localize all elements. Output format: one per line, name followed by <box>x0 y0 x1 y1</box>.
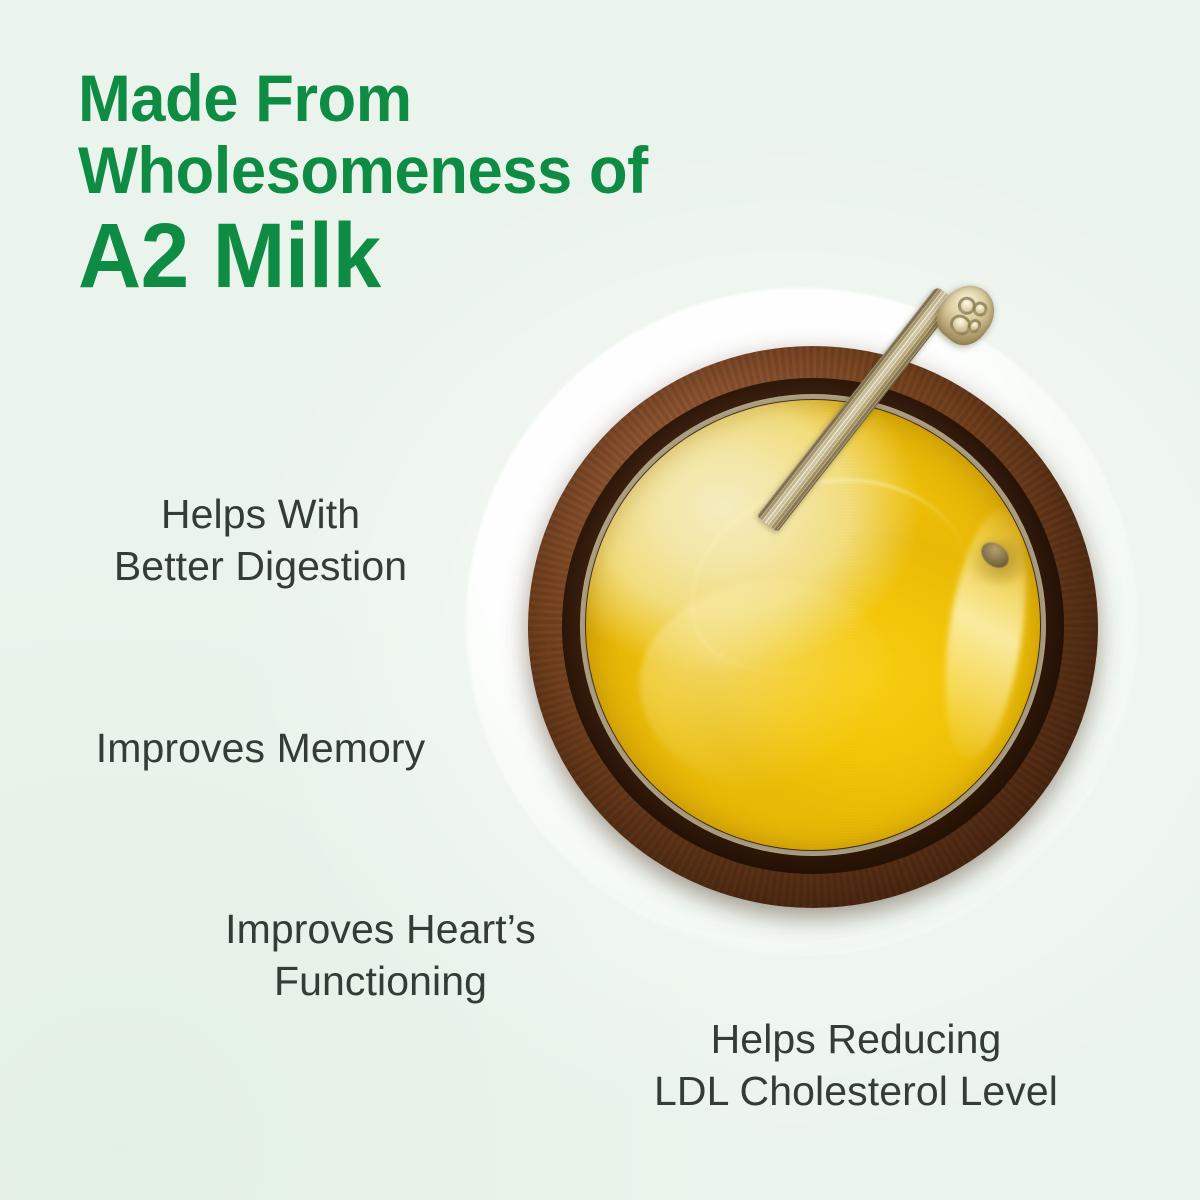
ornament-scroll-2 <box>970 299 991 320</box>
benefit-helps-with-better-digestion: Helps With Better Digestion <box>38 488 483 592</box>
headline: Made From Wholesomeness of A2 Milk <box>78 62 838 304</box>
benefit-improves-memory: Improves Memory <box>28 722 493 774</box>
product-infographic: Made From Wholesomeness of A2 Milk Helps… <box>0 0 1200 1200</box>
headline-line-3: A2 Milk <box>78 208 800 304</box>
melted-ghee-surface <box>586 400 1040 850</box>
headline-line-2: Wholesomeness of <box>78 134 808 206</box>
ghee-in-wooden-bowl-photo <box>452 278 1152 968</box>
headline-line-1: Made From <box>78 62 808 134</box>
benefit-improves-hearts-functioning: Improves Heart’s Functioning <box>168 903 593 1007</box>
benefit-helps-reducing-ldl-cholesterol-level: Helps Reducing LDL Cholesterol Level <box>586 1013 1126 1117</box>
ornament-scroll-1 <box>954 293 979 318</box>
